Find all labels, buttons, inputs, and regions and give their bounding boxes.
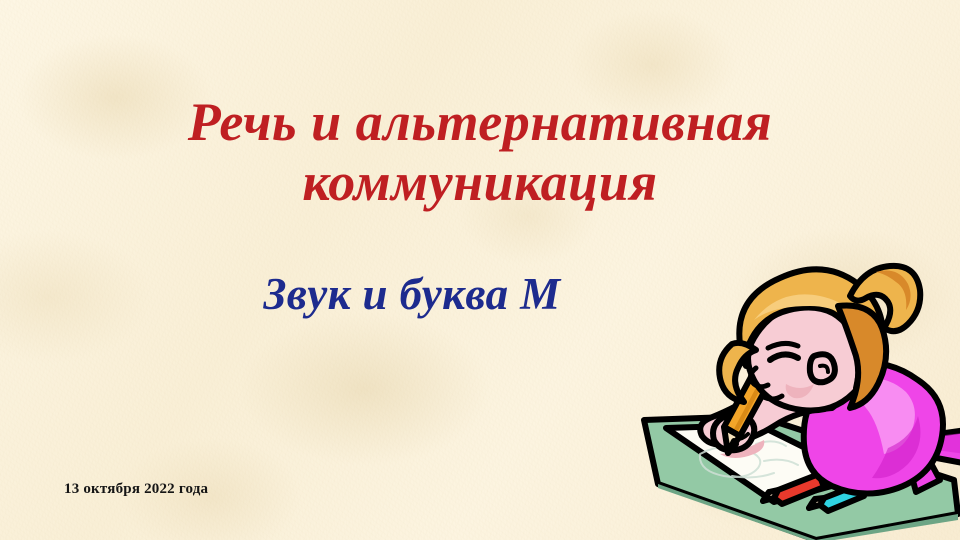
girl-drawing-illustration — [636, 248, 960, 540]
slide-date: 13 октября 2022 года — [64, 481, 208, 498]
page-title: Речь и альтернативная коммуникация — [0, 92, 960, 213]
ear — [810, 354, 835, 382]
presentation-slide: Речь и альтернативная коммуникация Звук … — [0, 0, 960, 540]
